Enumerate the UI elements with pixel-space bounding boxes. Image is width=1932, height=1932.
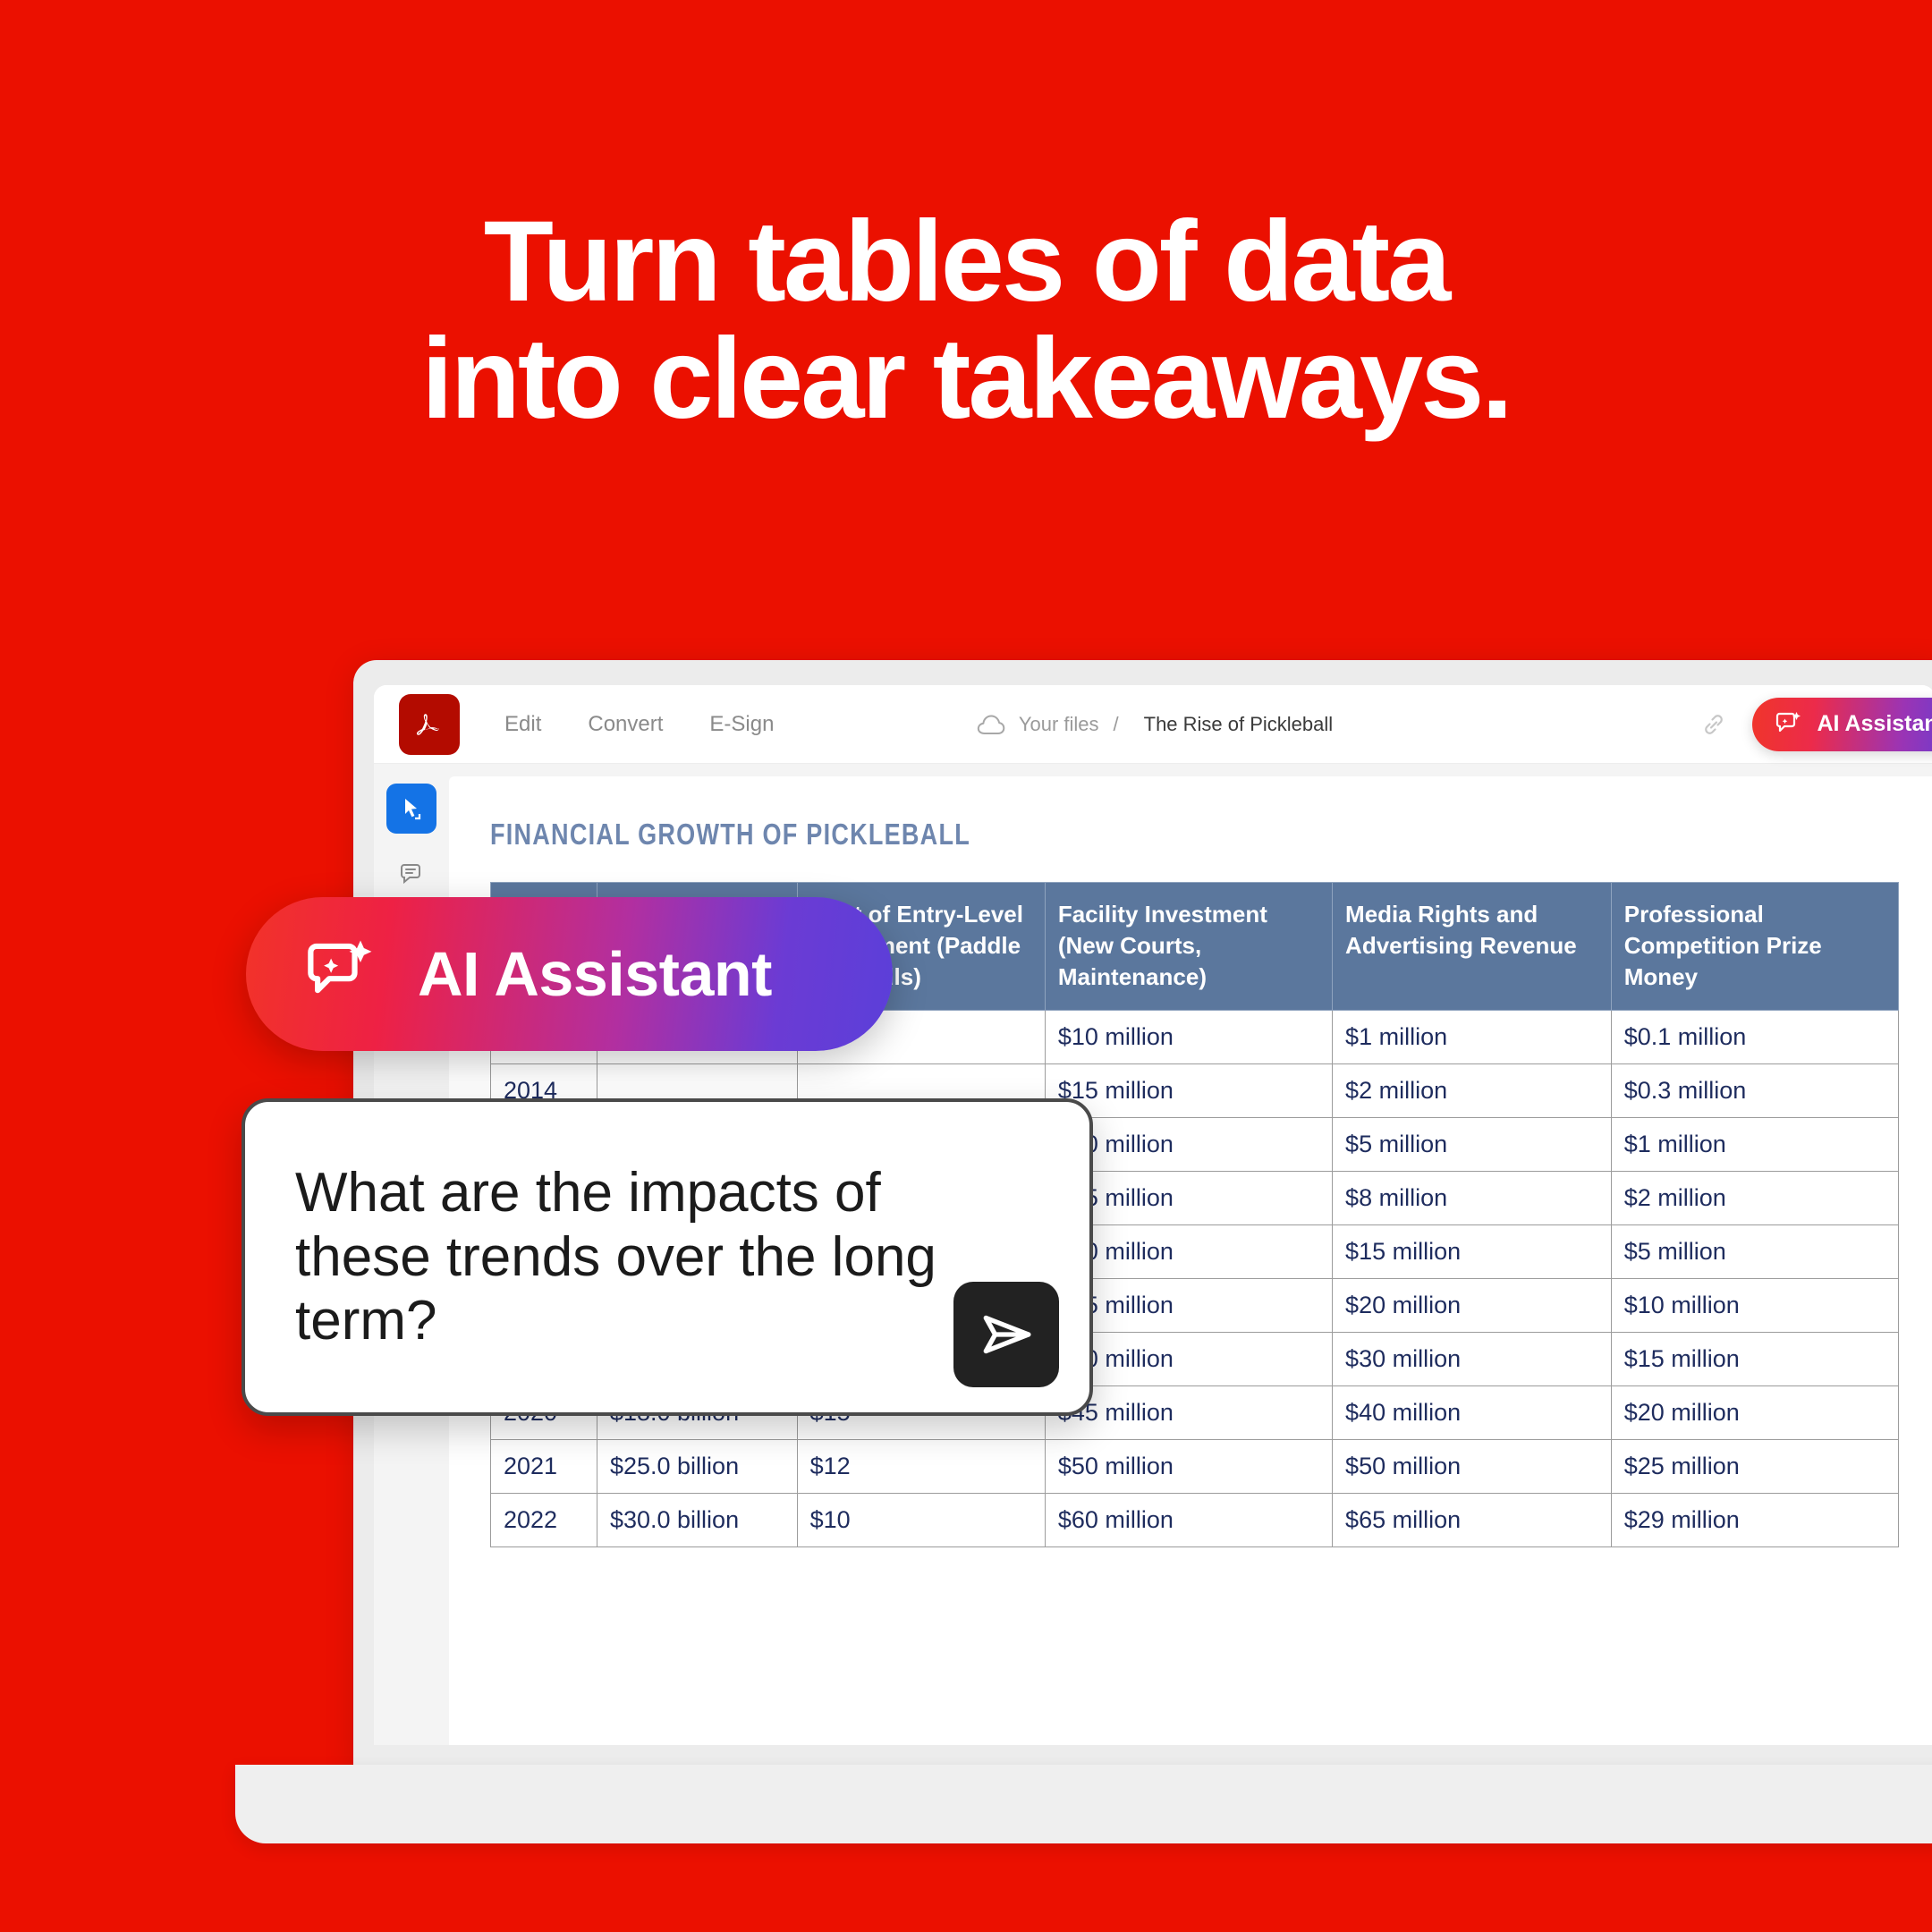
document-title: FINANCIAL GROWTH OF PICKLEBALL xyxy=(490,818,1674,852)
ai-assistant-callout-pill[interactable]: AI Assistant xyxy=(246,897,893,1051)
ai-assistant-toolbar-button[interactable]: AI Assistant xyxy=(1752,698,1932,751)
cell-media: $2 million xyxy=(1333,1064,1612,1118)
cell-media: $50 million xyxy=(1333,1440,1612,1494)
send-paper-plane-icon xyxy=(977,1305,1036,1364)
page-headline: Turn tables of data into clear takeaways… xyxy=(0,204,1932,437)
ai-question-text[interactable]: What are the impacts of these trends ove… xyxy=(295,1161,953,1354)
cell-facility: $50 million xyxy=(1045,1440,1332,1494)
headline-line-1: Turn tables of data xyxy=(0,204,1932,321)
table-row: 2022$30.0 billion$10$60 million$65 milli… xyxy=(491,1494,1899,1547)
headline-line-2: into clear takeaways. xyxy=(0,321,1932,438)
link-icon[interactable] xyxy=(1699,709,1729,740)
app-toolbar: Edit Convert E-Sign Your files / The Ris… xyxy=(374,685,1932,764)
breadcrumb-separator: / xyxy=(1114,713,1119,736)
cell-prize: $2 million xyxy=(1611,1172,1898,1225)
cell-prize: $20 million xyxy=(1611,1386,1898,1440)
cell-year: 2021 xyxy=(491,1440,597,1494)
toolbar-nav: Edit Convert E-Sign xyxy=(504,712,774,737)
cell-revenue: $30.0 billion xyxy=(597,1494,797,1547)
laptop-base xyxy=(235,1765,1932,1843)
cell-prize: $15 million xyxy=(1611,1333,1898,1386)
cell-equipment: $12 xyxy=(797,1440,1045,1494)
cell-revenue: $25.0 billion xyxy=(597,1440,797,1494)
col-header-media: Media Rights and Advertising Revenue xyxy=(1333,883,1612,1011)
cell-media: $20 million xyxy=(1333,1279,1612,1333)
select-cursor-tool-button[interactable] xyxy=(386,784,436,834)
cell-media: $65 million xyxy=(1333,1494,1612,1547)
cell-facility: $60 million xyxy=(1045,1494,1332,1547)
cell-media: $5 million xyxy=(1333,1118,1612,1172)
cell-prize: $0.3 million xyxy=(1611,1064,1898,1118)
nav-item-edit[interactable]: Edit xyxy=(504,712,541,737)
cell-media: $40 million xyxy=(1333,1386,1612,1440)
ai-assistant-callout-label: AI Assistant xyxy=(418,938,772,1010)
breadcrumb-current-file: The Rise of Pickleball xyxy=(1144,713,1334,736)
toolbar-right-actions: AI Assistant xyxy=(1699,685,1932,763)
send-button[interactable] xyxy=(953,1282,1059,1387)
cell-media: $15 million xyxy=(1333,1225,1612,1279)
select-cursor-icon xyxy=(397,794,426,823)
ai-sparkle-chat-icon xyxy=(301,935,380,1013)
cell-prize: $5 million xyxy=(1611,1225,1898,1279)
comment-tool-button[interactable] xyxy=(386,848,436,898)
cell-media: $8 million xyxy=(1333,1172,1612,1225)
cell-year: 2022 xyxy=(491,1494,597,1547)
cell-prize: $29 million xyxy=(1611,1494,1898,1547)
breadcrumb: Your files / The Rise of Pickleball xyxy=(976,713,1333,736)
ai-question-card[interactable]: What are the impacts of these trends ove… xyxy=(241,1098,1093,1416)
comment-bubble-icon xyxy=(397,859,426,887)
cloud-icon xyxy=(976,713,1006,736)
col-header-facility: Facility Investment (New Courts, Mainten… xyxy=(1045,883,1332,1011)
nav-item-convert[interactable]: Convert xyxy=(588,712,663,737)
cell-prize: $1 million xyxy=(1611,1118,1898,1172)
adobe-acrobat-logo[interactable] xyxy=(399,694,460,755)
col-header-prize: Professional Competition Prize Money xyxy=(1611,883,1898,1011)
cell-prize: $0.1 million xyxy=(1611,1011,1898,1064)
cell-prize: $10 million xyxy=(1611,1279,1898,1333)
cell-prize: $25 million xyxy=(1611,1440,1898,1494)
cell-equipment: $10 xyxy=(797,1494,1045,1547)
ai-assistant-toolbar-label: AI Assistant xyxy=(1817,711,1932,737)
ai-sparkle-chat-icon xyxy=(1774,709,1804,740)
cell-facility: $10 million xyxy=(1045,1011,1332,1064)
breadcrumb-root[interactable]: Your files xyxy=(1019,713,1099,736)
cell-media: $1 million xyxy=(1333,1011,1612,1064)
nav-item-esign[interactable]: E-Sign xyxy=(709,712,774,737)
cell-media: $30 million xyxy=(1333,1333,1612,1386)
table-row: 2021$25.0 billion$12$50 million$50 milli… xyxy=(491,1440,1899,1494)
